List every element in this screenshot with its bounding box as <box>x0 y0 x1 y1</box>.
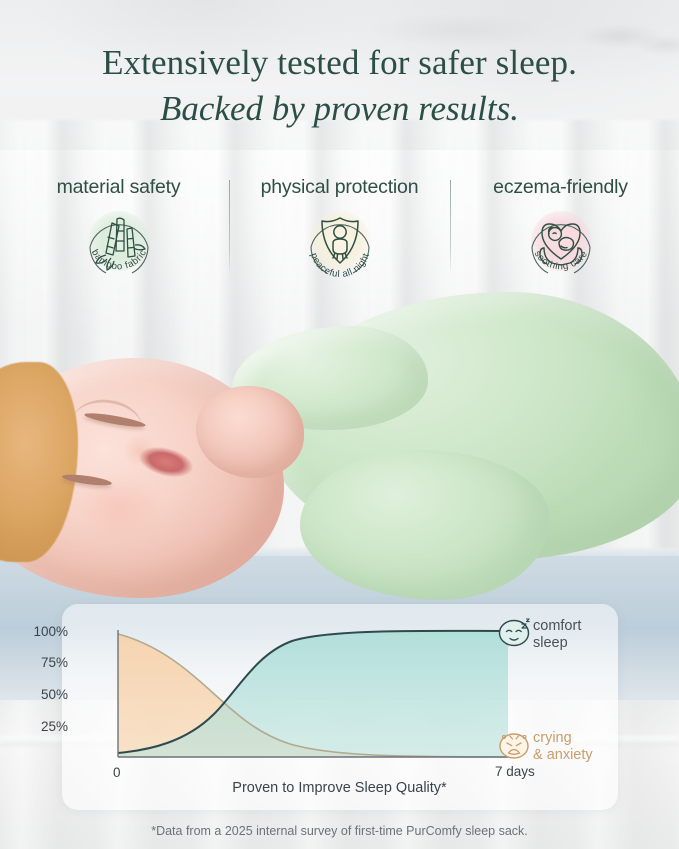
y-tick-label-75: 75% <box>14 655 68 670</box>
legend-crying-anxiety: crying & anxiety <box>533 730 593 764</box>
legend-comfort-line-1: comfort <box>533 618 581 635</box>
marketing-infographic-page: Extensively tested for safer sleep. Back… <box>0 0 679 849</box>
sleeping-baby-face-icon <box>500 619 530 646</box>
y-tick-label-50: 50% <box>14 687 68 702</box>
y-tick-label-25: 25% <box>14 719 68 734</box>
legend-crying-line-2: & anxiety <box>533 747 593 764</box>
legend-crying-line-1: crying <box>533 730 593 747</box>
footnote-text: *Data from a 2025 internal survey of fir… <box>0 824 679 838</box>
crying-baby-face-icon <box>500 734 528 758</box>
legend-comfort-sleep: comfort sleep <box>533 618 581 652</box>
legend-comfort-line-2: sleep <box>533 635 581 652</box>
chart-caption: Proven to Improve Sleep Quality* <box>0 780 679 796</box>
y-tick-label-100: 100% <box>14 624 68 639</box>
x-tick-label-end: 7 days <box>495 764 535 779</box>
sleep-quality-chart <box>0 0 679 849</box>
x-tick-label-start: 0 <box>113 765 121 780</box>
